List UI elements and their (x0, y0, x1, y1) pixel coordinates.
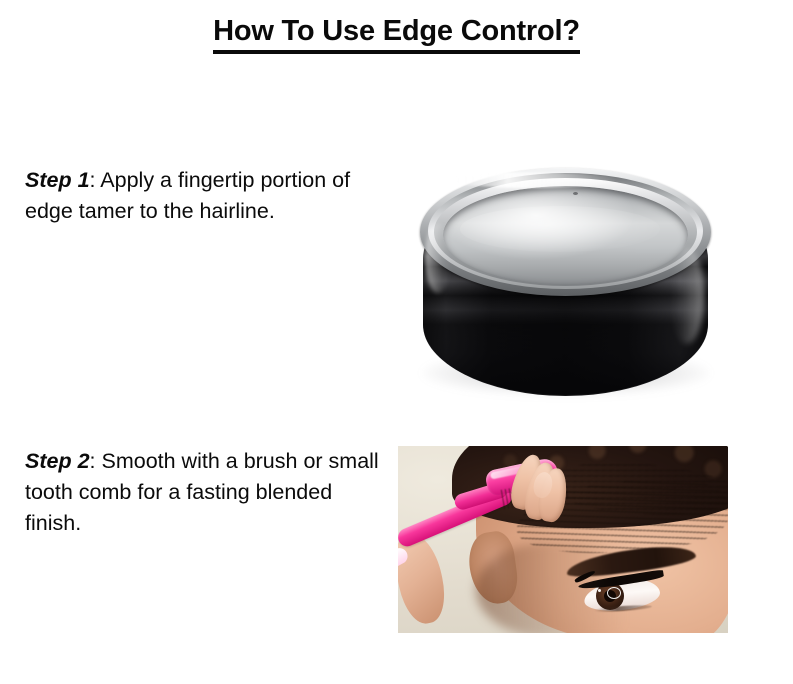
step-2-separator: : (90, 449, 102, 473)
tin-rim-highlight (448, 172, 618, 188)
tin-surface-speck (573, 192, 578, 195)
step-1-instruction: Step 1: Apply a fingertip portion of edg… (25, 165, 397, 227)
step-1-separator: : (90, 168, 101, 192)
eye-catchlight-dot (598, 589, 601, 592)
step-1-label: Step 1 (25, 168, 90, 192)
step-2-instruction: Step 2: Smooth with a brush or small too… (25, 446, 385, 539)
tin-right-gleam (670, 248, 704, 344)
page-title: How To Use Edge Control? (0, 14, 793, 54)
eye-catchlight (607, 587, 621, 599)
edge-control-instruction-page: How To Use Edge Control? Step 1: Apply a… (0, 0, 793, 684)
step-2-label: Step 2 (25, 449, 90, 473)
tin-left-gleam (425, 223, 451, 293)
edge-brush-photo (398, 446, 728, 633)
page-title-text: How To Use Edge Control? (213, 14, 580, 54)
tin-interior-sheen (460, 206, 660, 252)
edge-control-tin-photo (398, 128, 728, 413)
